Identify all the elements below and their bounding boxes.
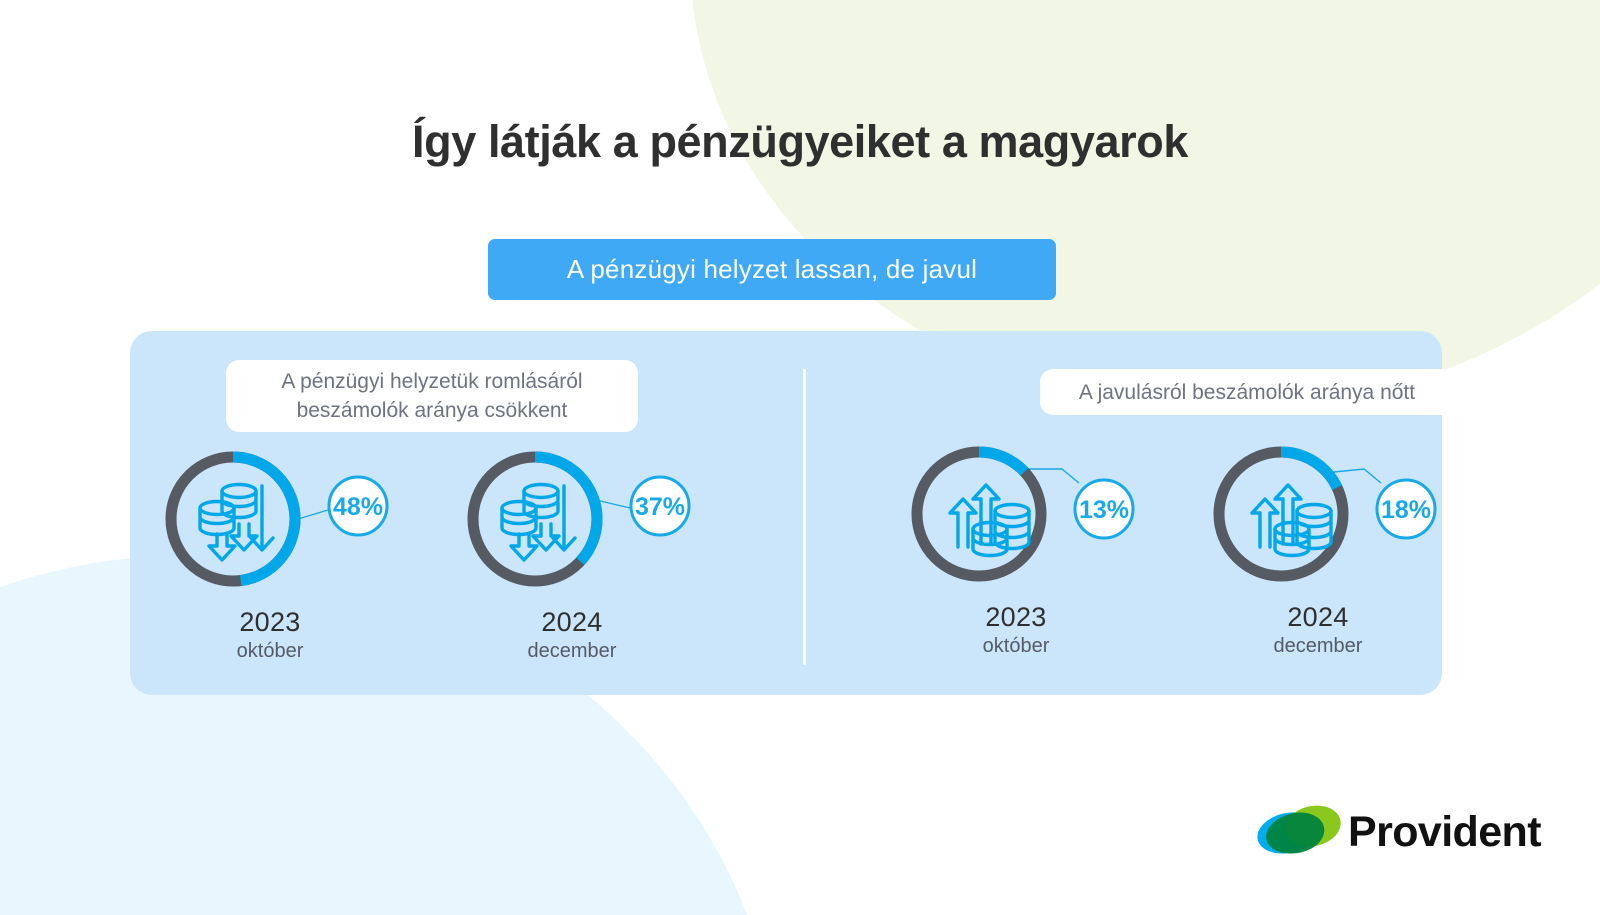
coins-up-arrows-icon: [1252, 485, 1331, 556]
leader-line: [298, 510, 328, 519]
stat-month: október: [150, 640, 390, 663]
donut-wrap: 13%: [896, 439, 1136, 589]
coins-up-arrows-icon: [950, 485, 1029, 556]
caption-pill-right: A javulásról beszámolók aránya nőtt: [1040, 369, 1454, 415]
infographic-canvas: Így látják a pénzügyeiket a magyarok A p…: [0, 0, 1600, 915]
panel-half-right: A javulásról beszámolók aránya nőtt: [806, 331, 1442, 695]
donut-chart-18: 18%: [1198, 439, 1438, 589]
stat-year: 2024: [452, 607, 692, 638]
stat-block-left-2023: 48% 2023 október: [150, 444, 390, 663]
coins-down-arrows-icon: [200, 485, 273, 561]
donut-chart-37: 37%: [452, 444, 692, 594]
donut-chart-13: 13%: [896, 439, 1136, 589]
stat-year: 2023: [150, 607, 390, 638]
percent-label: 37%: [635, 493, 685, 521]
percent-label: 48%: [333, 493, 383, 521]
stat-block-right-2024: 18% 2024 december: [1198, 439, 1438, 658]
stat-year: 2024: [1198, 602, 1438, 633]
stat-block-left-2024: 37% 2024 december: [452, 444, 692, 663]
stat-month: december: [452, 640, 692, 663]
subtitle-banner: A pénzügyi helyzet lassan, de javul: [488, 239, 1056, 300]
panel-half-left: A pénzügyi helyzetük romlásáról beszámol…: [130, 331, 803, 695]
caption-pill-left: A pénzügyi helyzetük romlásáról beszámol…: [226, 360, 638, 432]
donut-wrap: 37%: [452, 444, 692, 594]
logo-wordmark: Provident: [1348, 808, 1541, 857]
page-title: Így látják a pénzügyeiket a magyarok: [0, 116, 1600, 168]
donut-wrap: 48%: [150, 444, 390, 594]
percent-label: 13%: [1079, 496, 1129, 524]
stat-block-right-2023: 13% 2023 október: [896, 439, 1136, 658]
coins-down-arrows-icon: [502, 485, 575, 561]
donut-chart-48: 48%: [150, 444, 390, 594]
provident-logo: Provident: [1256, 800, 1526, 864]
provident-logo-mark: [1256, 800, 1346, 856]
donut-wrap: 18%: [1198, 439, 1438, 589]
stat-year: 2023: [896, 602, 1136, 633]
percent-label: 18%: [1381, 496, 1431, 524]
stat-month: október: [896, 635, 1136, 658]
stat-month: december: [1198, 635, 1438, 658]
stats-panel: A pénzügyi helyzetük romlásáról beszámol…: [130, 331, 1442, 695]
subtitle-banner-label: A pénzügyi helyzet lassan, de javul: [567, 254, 977, 285]
